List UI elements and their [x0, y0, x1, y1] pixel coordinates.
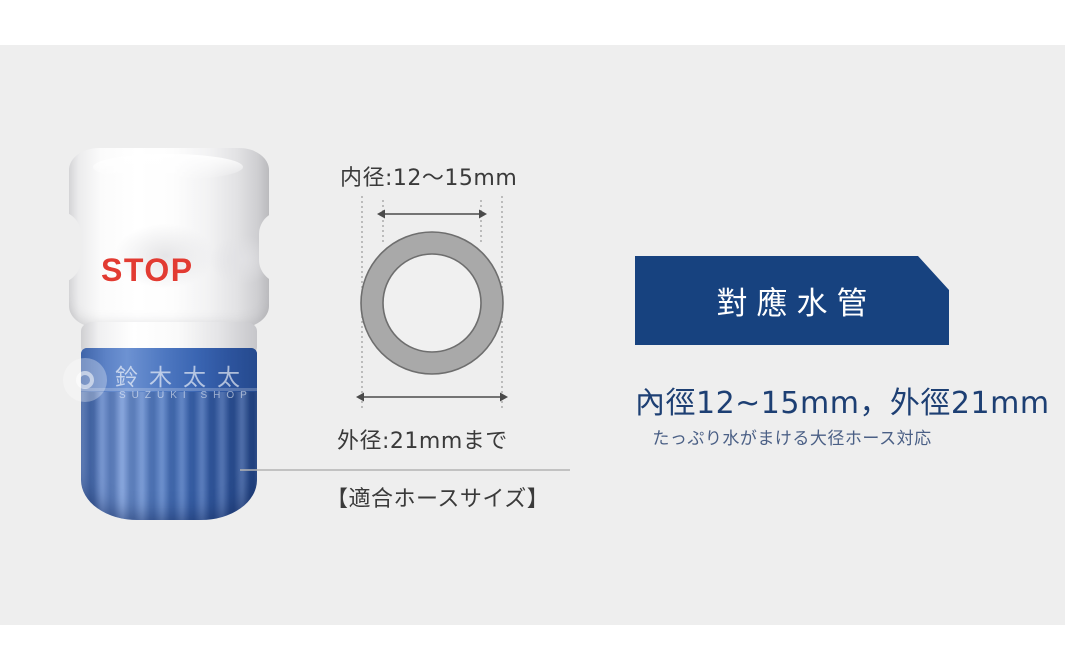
spec-headline: 內徑12~15mm，外徑21mm — [635, 378, 949, 422]
inner-diameter-label: 内径:12〜15mm — [340, 160, 517, 192]
compatible-hose-banner: 對應水管 — [635, 256, 949, 345]
spec-subline: たっぷり水がまける大径ホース対応 — [635, 424, 949, 449]
banner-title: 對應水管 — [708, 278, 877, 323]
compatible-hose-size-label: 【適合ホースサイズ】 — [326, 481, 549, 513]
promo-banner-image: STOP 鈴木太太 SUZUKI SHOP — [0, 0, 1065, 660]
outer-diameter-label: 外径:21mmまで — [337, 423, 508, 455]
hose-inner-circle — [383, 254, 481, 352]
